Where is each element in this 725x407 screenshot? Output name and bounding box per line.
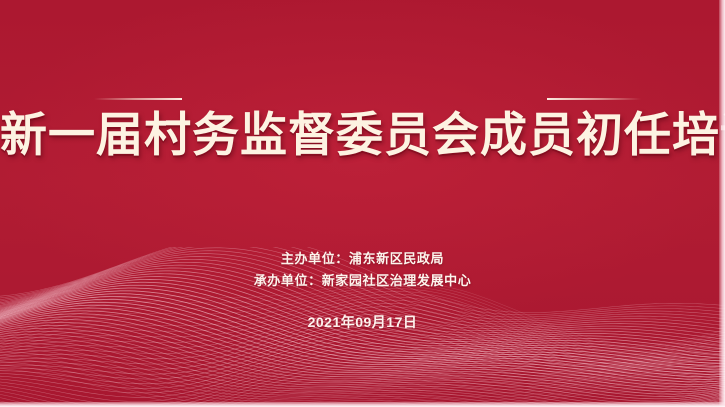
bottom-edge-highlight (0, 402, 725, 407)
event-date: 2021年09月17日 (0, 312, 725, 332)
credits-block: 主办单位：浦东新区民政局 承办单位：新家园社区治理发展中心 (0, 248, 725, 292)
background-gradient (0, 0, 725, 407)
page-title: 新一届村务监督委员会成员初任培训 (0, 106, 725, 164)
title-rule-left-icon (94, 98, 182, 100)
right-edge-highlight (719, 0, 725, 407)
organizer-line: 主办单位：浦东新区民政局 (0, 248, 725, 270)
title-rule-right-icon (547, 98, 641, 100)
co-organizer-line: 承办单位：新家园社区治理发展中心 (0, 270, 725, 292)
presentation-title-slide: 新一届村务监督委员会成员初任培训 主办单位：浦东新区民政局 承办单位：新家园社区… (0, 0, 725, 407)
